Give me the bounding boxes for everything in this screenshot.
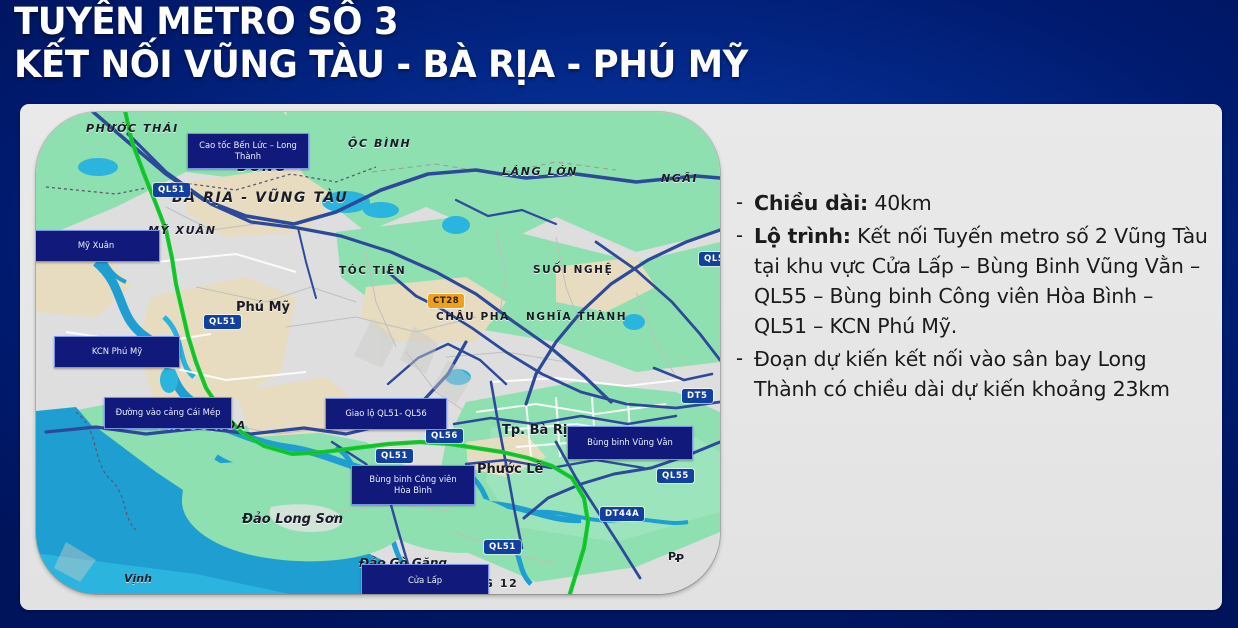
title-line-2: KẾT NỐI VŨNG TÀU - BÀ RỊA - PHÚ MỸ: [14, 45, 801, 84]
highway-shield: QL51: [204, 315, 241, 329]
map-callout-duong-vao-cang-cai-mep[interactable]: Đường vào cảng Cái Mép: [104, 397, 232, 429]
highway-shield: QL51: [484, 540, 521, 554]
info-bullet-label: Lộ trình:: [754, 224, 851, 248]
map-callout-cua-lap[interactable]: Cửa Lấp: [361, 564, 489, 594]
title-line-1: TUYẾN METRO SỐ 3: [14, 2, 801, 41]
highway-shield: DT44A: [600, 507, 644, 521]
map-callout-my-xuan[interactable]: Mỹ Xuân: [36, 230, 160, 262]
content-panel: PHƯỚC THÁIỘC BÌNHĐỒNGLÁNG LỚNNGÃIBÀ RỊA …: [20, 104, 1222, 610]
info-bullet-text: Đoạn dự kiến kết nối vào sân bay Long Th…: [754, 344, 1208, 404]
info-bullet-chieu-dai: - Chiều dài: 40km: [736, 188, 1208, 218]
info-bullet-value: 40km: [868, 191, 931, 215]
map-callout-giao-lo-ql51-ql56[interactable]: Giao lộ QL51- QL56: [325, 398, 447, 430]
bullet-dash: -: [736, 188, 754, 218]
info-bullet-text: Chiều dài: 40km: [754, 188, 1208, 218]
map-callout-bung-binh-cong-vien-hoa-binh[interactable]: Bùng binh Công viên Hòa Bình: [351, 465, 475, 505]
info-bullet-label: Chiều dài:: [754, 191, 868, 215]
info-bullet-text: Lộ trình: Kết nối Tuyến metro số 2 Vũng …: [754, 221, 1208, 341]
highway-shield: QL5: [699, 252, 720, 266]
map-callout-bung-binh-vung-van[interactable]: Bùng binh Vũng Vằn: [567, 426, 693, 460]
map-callout-cao-toc-ben-luc-long-thanh[interactable]: Cao tốc Bến Lức – Long Thành: [187, 133, 309, 169]
bullet-dash: -: [736, 221, 754, 251]
highway-shield: QL55: [657, 469, 694, 483]
info-bullet-lo-trinh: - Lộ trình: Kết nối Tuyến metro số 2 Vũn…: [736, 221, 1208, 341]
page-title: TUYẾN METRO SỐ 3 KẾT NỐI VŨNG TÀU - BÀ R…: [14, 2, 834, 84]
highway-shield: QL51: [153, 183, 190, 197]
map-figure[interactable]: PHƯỚC THÁIỘC BÌNHĐỒNGLÁNG LỚNNGÃIBÀ RỊA …: [36, 112, 720, 594]
info-bullet-san-bay-long-thanh: - Đoạn dự kiến kết nối vào sân bay Long …: [736, 344, 1208, 404]
highway-shield: QL56: [426, 429, 463, 443]
map-canvas[interactable]: PHƯỚC THÁIỘC BÌNHĐỒNGLÁNG LỚNNGÃIBÀ RỊA …: [36, 112, 720, 594]
highway-shield: DT5: [682, 389, 713, 403]
bullet-dash: -: [736, 344, 754, 374]
map-callout-kcn-phu-my[interactable]: KCN Phú Mỹ: [54, 336, 180, 368]
info-list: - Chiều dài: 40km - Lộ trình: Kết nối Tu…: [736, 188, 1208, 407]
highway-shield: QL51: [376, 449, 413, 463]
highway-shield: CT28: [428, 294, 464, 308]
